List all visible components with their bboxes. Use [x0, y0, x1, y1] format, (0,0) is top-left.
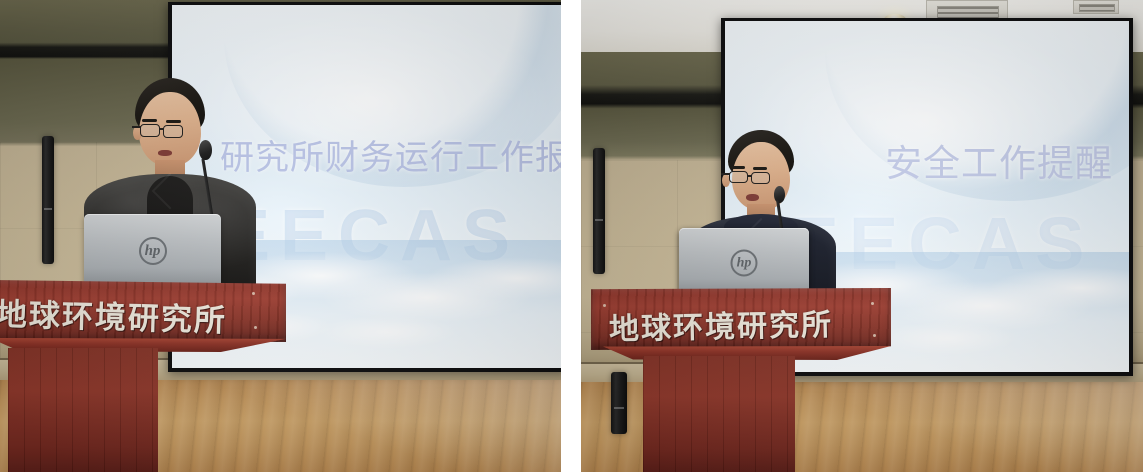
podium-screw-right-2: [871, 302, 874, 305]
glasses-left-lens-left: [140, 124, 160, 137]
glasses-temple-right: [721, 173, 730, 175]
podium-base-left: [8, 348, 158, 472]
podium-screw-left-1: [252, 292, 255, 295]
photo-right[interactable]: IEECAS 安全工作提醒: [581, 0, 1143, 472]
glasses-right-lens-right: [751, 172, 770, 184]
glasses-bridge-left: [159, 128, 164, 130]
glasses-right-lens-left: [163, 125, 183, 138]
hp-logo-right: hp: [731, 250, 758, 277]
podium-screw-left-2: [254, 326, 257, 329]
laptop-right-body[interactable]: hp: [679, 228, 809, 296]
laptop-left[interactable]: hp: [84, 214, 221, 286]
podium-left: 地球环境研究所: [0, 280, 286, 472]
ac-vent-corner-right: [1073, 0, 1119, 14]
eyebrow-left-left: [142, 119, 157, 122]
eyebrow-left-right: [731, 166, 745, 169]
podium-nameplate-right: 地球环境研究所: [609, 300, 834, 349]
microphone-head-left: [199, 140, 212, 160]
podium-base-right: [643, 356, 795, 472]
mouth-left: [158, 150, 172, 156]
speaker-column-right: [593, 148, 605, 274]
photo-left[interactable]: IEECAS 研究所财务运行工作报告: [0, 0, 561, 472]
eyebrow-right-left: [166, 120, 181, 123]
glasses-left-lens-right: [729, 171, 748, 183]
podium-screw-right-3: [873, 334, 876, 337]
photo-gallery: IEECAS 研究所财务运行工作报告: [0, 0, 1143, 472]
podium-nameplate-left: 地球环境研究所: [0, 289, 228, 340]
podium-right: 地球环境研究所: [591, 288, 891, 472]
photo-gap: [561, 0, 581, 472]
podium-screw-right-1: [603, 304, 606, 307]
slide-title-left: 研究所财务运行工作报告: [220, 130, 561, 179]
speaker-column-left: [42, 136, 54, 264]
glasses-bridge-right: [747, 175, 752, 177]
mouth-right: [746, 194, 759, 201]
glasses-temple-left: [132, 126, 141, 128]
eyebrow-right-right: [753, 167, 767, 170]
slide-title-right: 安全工作提醒: [885, 133, 1113, 187]
hp-logo-left: hp: [139, 237, 167, 265]
